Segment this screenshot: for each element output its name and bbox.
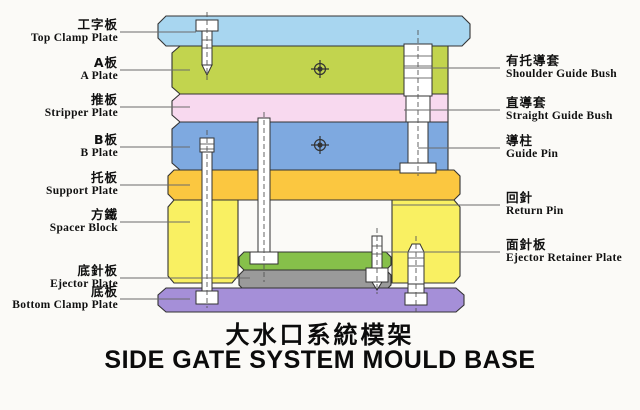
label-en: Guide Pin bbox=[506, 148, 558, 161]
label-cn: A板 bbox=[0, 56, 118, 70]
label-spacer-block: 方鐵 Spacer Block bbox=[0, 208, 118, 235]
label-guide-pin: 導柱 Guide Pin bbox=[506, 134, 558, 161]
label-cn: 方鐵 bbox=[0, 208, 118, 222]
label-cn: 底板 bbox=[0, 285, 118, 299]
label-stripper-plate: 推板 Stripper Plate bbox=[0, 93, 118, 120]
label-top-clamp-plate: 工字板 Top Clamp Plate bbox=[0, 18, 118, 45]
label-support-plate: 托板 Support Plate bbox=[0, 171, 118, 198]
label-en: Top Clamp Plate bbox=[0, 32, 118, 45]
label-straight-guide-bush: 直導套 Straight Guide Bush bbox=[506, 96, 613, 123]
label-en: Stripper Plate bbox=[0, 107, 118, 120]
label-cn: 面針板 bbox=[506, 238, 622, 252]
label-cn: B板 bbox=[0, 133, 118, 147]
label-cn: 工字板 bbox=[0, 18, 118, 32]
label-cn: 直導套 bbox=[506, 96, 613, 110]
title-english: SIDE GATE SYSTEM MOULD BASE bbox=[0, 346, 640, 375]
label-a-plate: A板 A Plate bbox=[0, 56, 118, 83]
label-cn: 推板 bbox=[0, 93, 118, 107]
label-en: A Plate bbox=[0, 70, 118, 83]
label-en: Spacer Block bbox=[0, 222, 118, 235]
label-bottom-clamp-plate: 底板 Bottom Clamp Plate bbox=[0, 285, 118, 312]
label-en: Shoulder Guide Bush bbox=[506, 68, 617, 81]
label-return-pin: 回針 Return Pin bbox=[506, 191, 564, 218]
label-cn: 托板 bbox=[0, 171, 118, 185]
spacer-block-right bbox=[392, 200, 460, 283]
label-en: Support Plate bbox=[0, 185, 118, 198]
label-shoulder-guide-bush: 有托導套 Shoulder Guide Bush bbox=[506, 54, 617, 81]
label-b-plate: B板 B Plate bbox=[0, 133, 118, 160]
label-cn: 有托導套 bbox=[506, 54, 617, 68]
label-en: Bottom Clamp Plate bbox=[0, 299, 118, 312]
label-en: Ejector Retainer Plate bbox=[506, 252, 622, 265]
mould-base-diagram: .ol{stroke:#333;stroke-width:1.1;} .thin… bbox=[0, 0, 640, 410]
label-en: Return Pin bbox=[506, 205, 564, 218]
label-cn: 導柱 bbox=[506, 134, 558, 148]
label-en: Straight Guide Bush bbox=[506, 110, 613, 123]
label-en: B Plate bbox=[0, 147, 118, 160]
label-cn: 回針 bbox=[506, 191, 564, 205]
title-chinese: 大水口系統模架 bbox=[0, 315, 640, 350]
label-cn: 底針板 bbox=[0, 264, 118, 278]
label-ejector-retainer-plate: 面針板 Ejector Retainer Plate bbox=[506, 238, 622, 265]
